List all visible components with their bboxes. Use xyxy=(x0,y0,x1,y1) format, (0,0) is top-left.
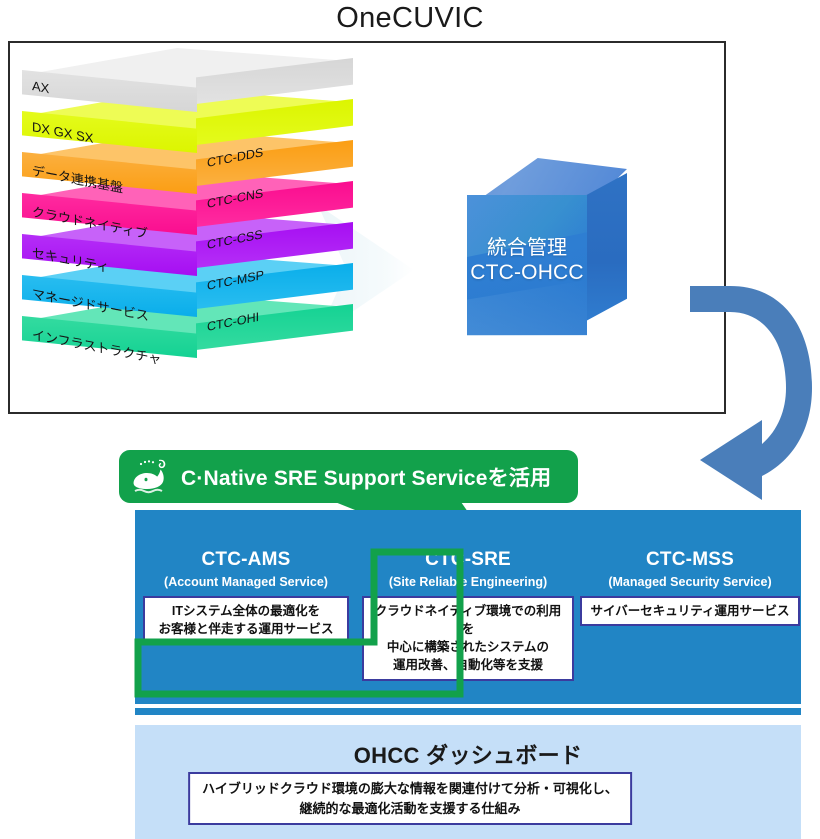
cube-side-face xyxy=(586,173,627,321)
cube-label: 統合管理 CTC-OHCC xyxy=(467,236,587,286)
service-description: ITシステム全体の最適化を お客様と伴走する運用サービス xyxy=(143,596,349,644)
curved-flow-arrow-icon xyxy=(690,278,820,510)
cnative-banner[interactable]: C·Native SRE Support Serviceを活用 xyxy=(119,450,578,503)
service-title: CTC-MSS xyxy=(579,549,801,571)
dashboard-description: ハイブリッドクラウド環境の膨大な情報を関連付けて分析・可視化し、 継続的な最適化… xyxy=(188,772,632,825)
service-title: CTC-AMS xyxy=(135,549,357,571)
dashboard-title: OHCC ダッシュボード xyxy=(135,738,801,770)
cnative-banner-text: C·Native SRE Support Serviceを活用 xyxy=(181,462,551,492)
service-desc-line: クラウドネイティブ環境での利用を xyxy=(375,604,562,636)
service-subtitle: (Site Reliable Engineering) xyxy=(357,575,579,589)
service-title: CTC-SRE xyxy=(357,549,579,571)
service-description: サイバーセキュリティ運用サービス xyxy=(580,596,800,626)
layer-label: AX xyxy=(32,78,49,96)
service-card-ctc-mss[interactable]: CTC-MSS (Managed Security Service) サイバーセ… xyxy=(579,543,801,673)
service-subtitle: (Managed Security Service) xyxy=(579,575,801,589)
service-desc-line: ITシステム全体の最適化を xyxy=(172,604,320,618)
panel-divider xyxy=(135,704,801,708)
ohcc-cube: 統合管理 CTC-OHCC xyxy=(437,158,627,358)
service-desc-line: 運用改善、自動化等を支援 xyxy=(393,658,543,672)
service-layer-stack: AXDX GX SXデータ連携基盤CTC-DDSクラウドネイティブCTC-CNS… xyxy=(22,48,372,378)
cube-label-line1: 統合管理 xyxy=(467,236,587,260)
dashboard-desc-line: ハイブリッドクラウド環境の膨大な情報を関連付けて分析・可視化し、 xyxy=(202,781,618,796)
page-title: OneCUVIC xyxy=(0,2,820,35)
dashboard-desc-line: 継続的な最適化活動を支援する仕組み xyxy=(299,801,520,816)
stack-layer: AX xyxy=(22,48,352,122)
services-row: CTC-AMS (Account Managed Service) ITシステム… xyxy=(135,543,801,673)
service-card-ctc-sre[interactable]: CTC-SRE (Site Reliable Engineering) クラウド… xyxy=(357,543,579,673)
cube-label-line2: CTC-OHCC xyxy=(467,260,587,286)
service-desc-line: 中心に構築されたシステムの xyxy=(387,640,549,654)
service-desc-line: お客様と伴走する運用サービス xyxy=(158,622,333,636)
service-desc-line: サイバーセキュリティ運用サービス xyxy=(590,604,789,618)
service-subtitle: (Account Managed Service) xyxy=(135,575,357,589)
service-description: クラウドネイティブ環境での利用を 中心に構築されたシステムの 運用改善、自動化等… xyxy=(362,596,574,681)
whale-icon xyxy=(129,457,179,497)
service-card-ctc-ams[interactable]: CTC-AMS (Account Managed Service) ITシステム… xyxy=(135,543,357,673)
